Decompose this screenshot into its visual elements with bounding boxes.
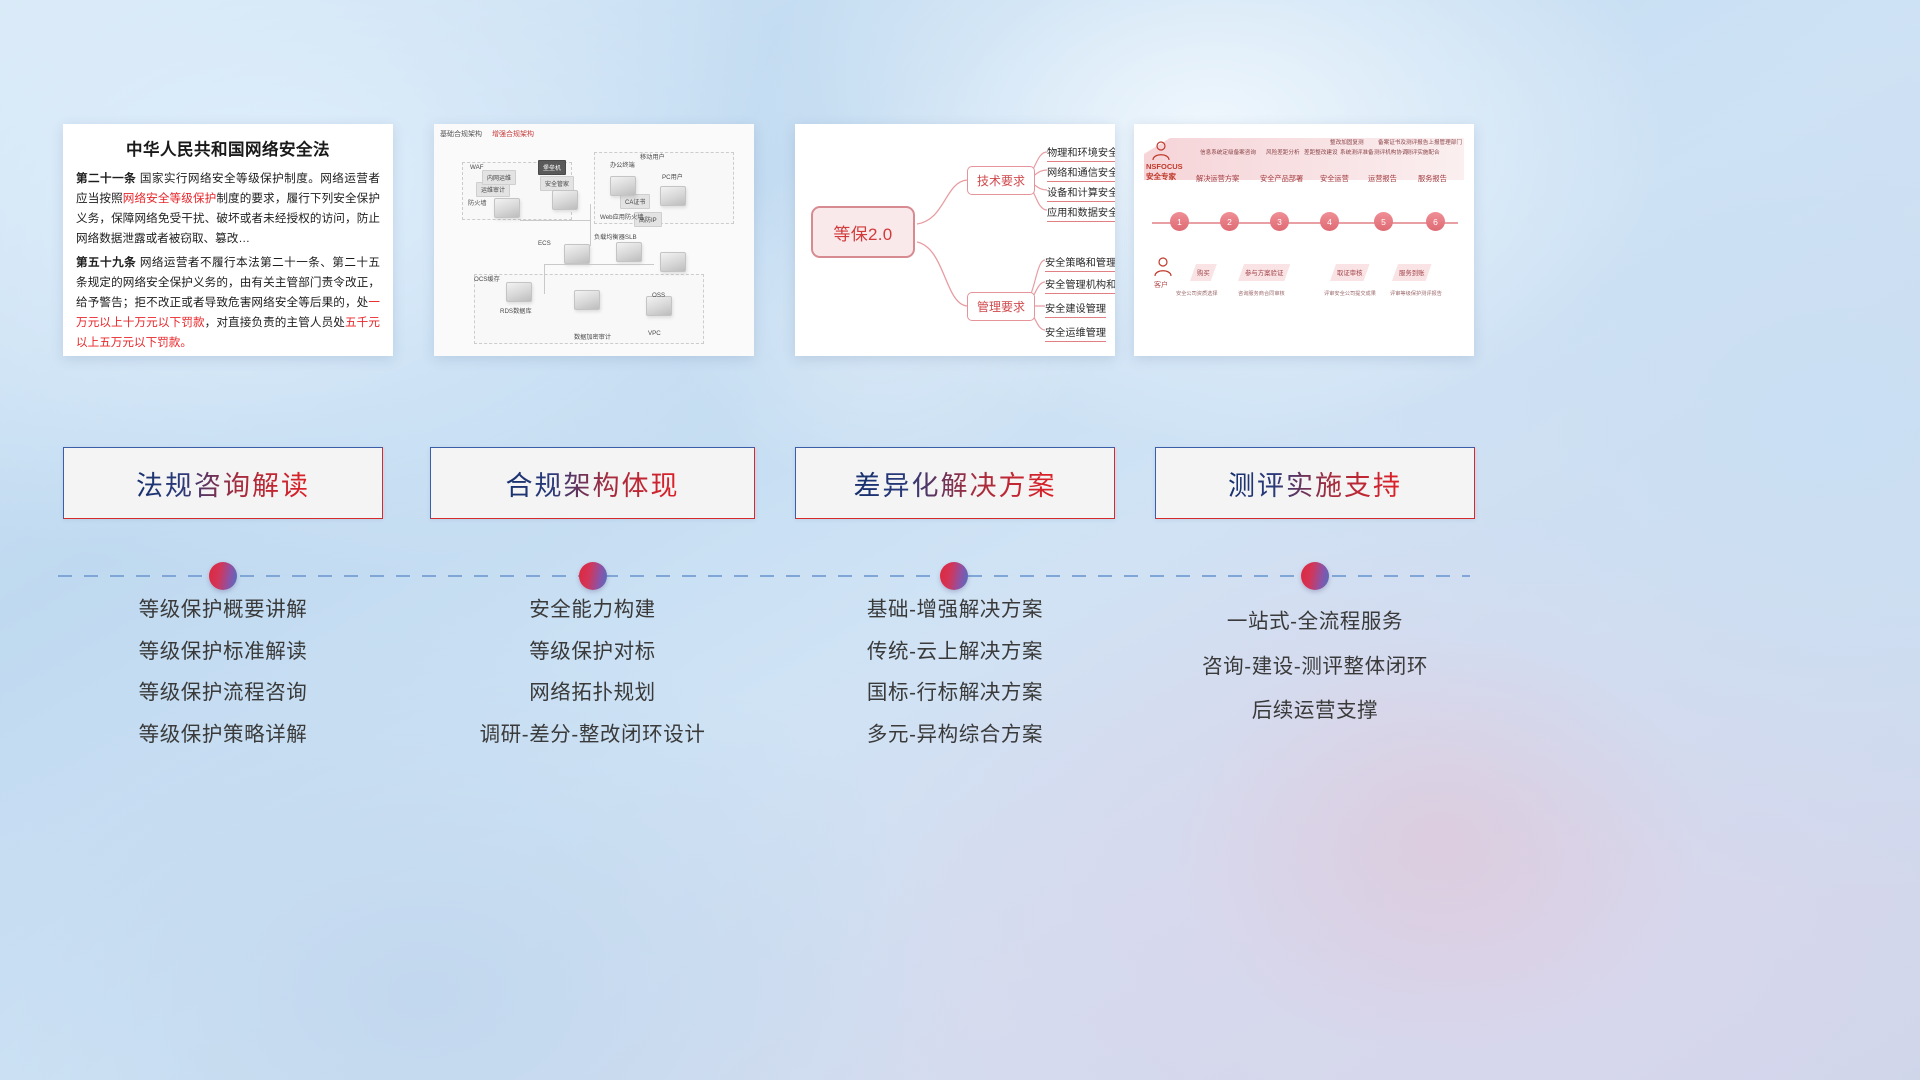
mindmap-leaf-physical-env: 物理和环境安全 bbox=[1047, 144, 1115, 162]
roadmap-sub-1: 安全公司资质选择 bbox=[1176, 290, 1218, 297]
architecture-cube-5 bbox=[564, 244, 590, 264]
roadmap-tag-purchase: 购买 bbox=[1190, 264, 1217, 281]
mindmap-card: 等保2.0 技术要求 管理要求 物理和环境安全 网络和通信安全 设备和计算安全 … bbox=[795, 124, 1115, 356]
customer-icon bbox=[1152, 256, 1174, 278]
list-item: 等级保护标准解读 bbox=[63, 642, 383, 663]
timeline-dot-2[interactable] bbox=[579, 562, 607, 590]
list-item: 咨询-建设-测评整体闭环 bbox=[1155, 657, 1475, 678]
list-item: 等级保护对标 bbox=[430, 642, 755, 663]
title-label-1: 法规咨询解读 bbox=[136, 464, 310, 503]
roadmap-tag-evidence-review: 取证审核 bbox=[1330, 264, 1370, 281]
list-item: 一站式-全流程服务 bbox=[1155, 612, 1475, 633]
architecture-label-rds: RDS数据库 bbox=[500, 306, 532, 315]
roadmap-chip-3: 差距整改建设 bbox=[1304, 148, 1338, 156]
architecture-cube-1 bbox=[494, 198, 520, 218]
roadmap-chip-7: 整改加固复测 bbox=[1330, 138, 1364, 146]
roadmap-number-4: 4 bbox=[1320, 212, 1339, 231]
architecture-tabs: 基础合规架构 增强合规架构 bbox=[440, 129, 534, 139]
mindmap-leaf-policy-system: 安全策略和管理制度 bbox=[1045, 254, 1115, 272]
title-box-compliance-architecture[interactable]: 合规架构体现 bbox=[430, 447, 755, 519]
architecture-link-3 bbox=[544, 264, 654, 265]
service-column-3: 基础-增强解决方案 传统-云上解决方案 国标-行标解决方案 多元-异构综合方案 bbox=[795, 600, 1115, 766]
architecture-label-slb: 负载均衡器SLB bbox=[594, 232, 637, 241]
roadmap-chip-6: 测评实施配合 bbox=[1406, 148, 1440, 156]
architecture-label-vpc: VPC bbox=[648, 330, 661, 337]
architecture-label-mobile-user: 移动用户 bbox=[640, 152, 665, 161]
title-label-3: 差异化解决方案 bbox=[854, 464, 1057, 503]
title-label-2: 合规架构体现 bbox=[506, 464, 680, 503]
roadmap-chip-4: 系统测评准备 bbox=[1340, 148, 1374, 156]
title-box-regulation-consulting[interactable]: 法规咨询解读 bbox=[63, 447, 383, 519]
list-item: 等级保护概要讲解 bbox=[63, 600, 383, 621]
list-item: 调研-差分-整改闭环设计 bbox=[430, 725, 755, 746]
title-box-differentiated-solution[interactable]: 差异化解决方案 bbox=[795, 447, 1115, 519]
law-article-21: 第二十一条 国家实行网络安全等级保护制度。网络运营者应当按照网络安全等级保护制度… bbox=[76, 169, 380, 249]
timeline-dashed-line bbox=[58, 575, 1470, 577]
roadmap-number-2: 2 bbox=[1220, 212, 1239, 231]
roadmap-sub-4: 评审等级保护测评报告 bbox=[1390, 290, 1442, 297]
roadmap-tag-participate: 参与方案验证 bbox=[1238, 264, 1290, 281]
roadmap-step-2: 安全产品部署 bbox=[1260, 174, 1303, 184]
law-text-card: 中华人民共和国网络安全法 第二十一条 国家实行网络安全等级保护制度。网络运营者应… bbox=[63, 124, 393, 356]
list-item: 传统-云上解决方案 bbox=[795, 642, 1115, 663]
architecture-cube-7 bbox=[660, 252, 686, 272]
roadmap-timeline-line bbox=[1152, 222, 1458, 224]
list-item: 多元-异构综合方案 bbox=[795, 725, 1115, 746]
architecture-label-oss: OSS bbox=[652, 292, 665, 299]
mindmap-leaf-construction-mgmt: 安全建设管理 bbox=[1045, 300, 1106, 318]
service-column-1: 等级保护概要讲解 等级保护标准解读 等级保护流程咨询 等级保护策略详解 bbox=[63, 600, 383, 766]
list-item: 国标-行标解决方案 bbox=[795, 683, 1115, 704]
architecture-node-intranet-ops: 内网运维 bbox=[482, 170, 516, 185]
expert-icon bbox=[1150, 140, 1172, 162]
mindmap-root-node: 等保2.0 bbox=[811, 206, 915, 258]
architecture-label-office-terminal: 办公终端 bbox=[610, 160, 635, 169]
image-card-row: 中华人民共和国网络安全法 第二十一条 国家实行网络安全等级保护制度。网络运营者应… bbox=[0, 124, 1920, 364]
timeline-dot-4[interactable] bbox=[1301, 562, 1329, 590]
roadmap-sub-2: 咨询服务商合同审核 bbox=[1238, 290, 1285, 297]
architecture-cube-10 bbox=[646, 296, 672, 316]
title-box-evaluation-support[interactable]: 测评实施支持 bbox=[1155, 447, 1475, 519]
roadmap-sub-3: 评审安全公司提交成果 bbox=[1324, 290, 1376, 297]
roadmap-number-6: 6 bbox=[1426, 212, 1445, 231]
roadmap-number-5: 5 bbox=[1374, 212, 1393, 231]
architecture-cube-3 bbox=[610, 176, 636, 196]
list-item: 安全能力构建 bbox=[430, 600, 755, 621]
roadmap-step-4: 运营报告 bbox=[1368, 174, 1397, 184]
title-box-row: 法规咨询解读 合规架构体现 差异化解决方案 测评实施支持 bbox=[0, 447, 1920, 519]
architecture-tab-enhanced: 增强合规架构 bbox=[492, 129, 534, 139]
roadmap-customer-label: 客户 bbox=[1154, 280, 1168, 290]
mindmap-branch-management: 管理要求 bbox=[967, 292, 1035, 321]
architecture-canvas: 基础合规架构 增强合规架构 堡垒机 运维审计 内网运维 安全管家 CA证书 高防… bbox=[434, 124, 754, 356]
architecture-label-crypto-audit: 数据加密审计 bbox=[574, 332, 611, 341]
mindmap-leaf-ops-mgmt: 安全运维管理 bbox=[1045, 324, 1106, 342]
roadmap-step-1: 解决运营方案 bbox=[1196, 174, 1239, 184]
architecture-label-waf: WAF bbox=[470, 164, 484, 171]
architecture-label-firewall: 防火墙 bbox=[468, 198, 487, 207]
roadmap-tag-service-delivered: 服务到账 bbox=[1392, 264, 1432, 281]
mindmap-branch-technical: 技术要求 bbox=[967, 166, 1035, 195]
architecture-diagram-card: 基础合规架构 增强合规架构 堡垒机 运维审计 内网运维 安全管家 CA证书 高防… bbox=[434, 124, 754, 356]
timeline-dot-1[interactable] bbox=[209, 562, 237, 590]
architecture-link-4 bbox=[544, 264, 545, 294]
law-card-title: 中华人民共和国网络安全法 bbox=[76, 136, 380, 160]
architecture-label-ocs: OCS缓存 bbox=[474, 274, 500, 283]
architecture-label-ecs: ECS bbox=[538, 240, 551, 247]
law-article-59-text-b: ，对直接负责的主管人员处 bbox=[205, 316, 345, 329]
architecture-node-ca: CA证书 bbox=[620, 194, 650, 209]
roadmap-step-3: 安全运营 bbox=[1320, 174, 1349, 184]
law-article-21-label: 第二十一条 bbox=[76, 172, 136, 185]
roadmap-number-1: 1 bbox=[1170, 212, 1189, 231]
architecture-node-bastion: 堡垒机 bbox=[538, 160, 566, 175]
architecture-label-waf-full: Web应用防火墙 bbox=[600, 212, 644, 221]
law-article-59-label: 第五十九条 bbox=[76, 256, 136, 269]
architecture-cube-6 bbox=[616, 242, 642, 262]
roadmap-chip-1: 信息系统定级备案咨询 bbox=[1200, 148, 1256, 156]
roadmap-chip-5: 测评机构协调 bbox=[1374, 148, 1408, 156]
roadmap-step-5: 服务报告 bbox=[1418, 174, 1447, 184]
architecture-cube-8 bbox=[506, 282, 532, 302]
timeline bbox=[58, 556, 1470, 596]
law-article-59: 第五十九条 网络运营者不履行本法第二十一条、第二十五条规定的网络安全保护义务的，… bbox=[76, 253, 380, 353]
service-column-2: 安全能力构建 等级保护对标 网络拓扑规划 调研-差分-整改闭环设计 bbox=[430, 600, 755, 766]
mindmap-leaf-app-data: 应用和数据安全 bbox=[1047, 204, 1115, 222]
architecture-link-2 bbox=[590, 204, 591, 246]
roadmap-logo-line2: 安全专家 bbox=[1146, 172, 1176, 181]
mindmap-canvas: 等保2.0 技术要求 管理要求 物理和环境安全 网络和通信安全 设备和计算安全 … bbox=[795, 124, 1115, 356]
architecture-cube-2 bbox=[552, 190, 578, 210]
mindmap-leaf-device-compute: 设备和计算安全 bbox=[1047, 184, 1115, 202]
architecture-link-1 bbox=[520, 220, 590, 221]
roadmap-chip-8: 备案证书及测评报告上报管理部门 bbox=[1378, 138, 1462, 146]
mindmap-leaf-network-comm: 网络和通信安全 bbox=[1047, 164, 1115, 182]
list-item: 网络拓扑规划 bbox=[430, 683, 755, 704]
architecture-node-security-butler: 安全管家 bbox=[540, 176, 574, 191]
service-column-4: 一站式-全流程服务 咨询-建设-测评整体闭环 后续运营支撑 bbox=[1155, 612, 1475, 746]
roadmap-number-3: 3 bbox=[1270, 212, 1289, 231]
mindmap-leaf-org-personnel: 安全管理机构和人员 bbox=[1045, 276, 1115, 294]
architecture-tab-basic: 基础合规架构 bbox=[440, 129, 482, 139]
list-item: 等级保护策略详解 bbox=[63, 725, 383, 746]
list-item: 基础-增强解决方案 bbox=[795, 600, 1115, 621]
title-label-4: 测评实施支持 bbox=[1228, 464, 1402, 503]
list-item: 后续运营支撑 bbox=[1155, 701, 1475, 722]
list-item: 等级保护流程咨询 bbox=[63, 683, 383, 704]
roadmap-canvas: NSFOCUS 安全专家 信息系统定级备案咨询 风险差距分析 差距整改建设 系统… bbox=[1134, 124, 1474, 356]
architecture-label-pc-user: PC用户 bbox=[662, 172, 683, 181]
roadmap-chip-2: 风险差距分析 bbox=[1266, 148, 1300, 156]
roadmap-card: NSFOCUS 安全专家 信息系统定级备案咨询 风险差距分析 差距整改建设 系统… bbox=[1134, 124, 1474, 356]
architecture-cube-4 bbox=[660, 186, 686, 206]
architecture-cube-9 bbox=[574, 290, 600, 310]
roadmap-logo-line1: NSFOCUS bbox=[1146, 162, 1183, 171]
timeline-dot-3[interactable] bbox=[940, 562, 968, 590]
law-card-body: 中华人民共和国网络安全法 第二十一条 国家实行网络安全等级保护制度。网络运营者应… bbox=[63, 124, 393, 356]
law-article-21-highlight: 网络安全等级保护 bbox=[123, 192, 217, 205]
